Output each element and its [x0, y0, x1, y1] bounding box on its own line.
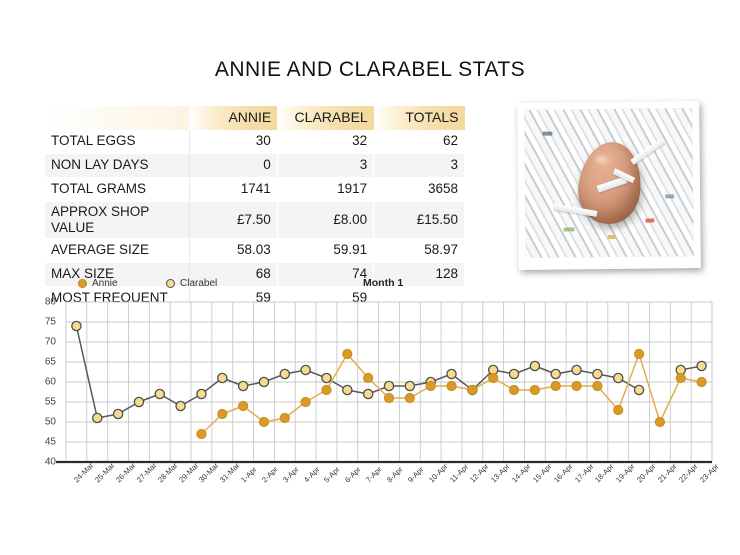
egg-photo-frame	[517, 101, 701, 270]
annie-data-point	[364, 373, 373, 382]
clarabel-data-point	[322, 373, 331, 382]
clarabel-marker-icon	[166, 279, 175, 288]
table-cell-clarabel: 3	[277, 154, 373, 178]
table-cell-totals: £15.50	[374, 202, 465, 239]
annie-data-point	[634, 349, 643, 358]
annie-data-point	[405, 393, 414, 402]
clarabel-data-point	[405, 381, 414, 390]
annie-data-point	[280, 413, 289, 422]
legend-label-clarabel: Clarabel	[180, 278, 217, 289]
legend-item-clarabel[interactable]: Clarabel	[166, 278, 217, 289]
clarabel-data-point	[239, 381, 248, 390]
egg-in-nest-photo	[524, 108, 694, 258]
table-cell-clarabel: 59.91	[277, 239, 373, 263]
nest-fleck	[542, 132, 552, 136]
annie-data-point	[218, 409, 227, 418]
clarabel-data-point	[447, 369, 456, 378]
table-row: APPROX SHOP VALUE£7.50£8.00£15.50	[45, 202, 465, 239]
clarabel-data-point	[218, 373, 227, 382]
clarabel-data-point	[384, 381, 393, 390]
table-cell-label: APPROX SHOP VALUE	[45, 202, 189, 239]
legend-label-annie: Annie	[92, 278, 118, 289]
annie-data-point	[676, 373, 685, 382]
annie-data-point	[301, 397, 310, 406]
table-header-clarabel: CLARABEL	[277, 106, 373, 130]
annie-data-point	[655, 417, 664, 426]
legend-item-annie[interactable]: Annie	[78, 278, 118, 289]
annie-data-point	[593, 381, 602, 390]
chart-svg	[0, 296, 740, 471]
annie-data-point	[239, 401, 248, 410]
table-cell-annie: 0	[189, 154, 277, 178]
table-header-row: ANNIE CLARABEL TOTALS	[45, 106, 465, 130]
clarabel-data-point	[697, 361, 706, 370]
clarabel-data-point	[93, 413, 102, 422]
clarabel-data-point	[551, 369, 560, 378]
table-cell-annie: 30	[189, 130, 277, 154]
annie-data-point	[551, 381, 560, 390]
annie-marker-icon	[78, 279, 87, 288]
clarabel-data-point	[634, 385, 643, 394]
nest-fleck	[563, 227, 574, 231]
clarabel-data-point	[113, 409, 122, 418]
table-cell-annie: £7.50	[189, 202, 277, 239]
table-cell-annie: 1741	[189, 178, 277, 202]
clarabel-data-point	[176, 401, 185, 410]
annie-data-point	[426, 381, 435, 390]
x-axis-labels: 24-Mar25-Mar26-Mar27-Mar28-Mar29-Mar30-M…	[0, 474, 740, 534]
annie-data-point	[572, 381, 581, 390]
annie-data-point	[447, 381, 456, 390]
nest-fleck	[665, 194, 674, 198]
annie-data-point	[468, 385, 477, 394]
annie-data-point	[614, 405, 623, 414]
table-cell-label: TOTAL GRAMS	[45, 178, 189, 202]
table-cell-clarabel: £8.00	[277, 202, 373, 239]
page-title: ANNIE AND CLARABEL STATS	[0, 58, 740, 82]
annie-data-point	[322, 385, 331, 394]
table-row: AVERAGE SIZE58.0359.9158.97	[45, 239, 465, 263]
table-cell-totals: 3658	[374, 178, 465, 202]
annie-data-point	[697, 377, 706, 386]
table-cell-label: TOTAL EGGS	[45, 130, 189, 154]
clarabel-data-point	[572, 365, 581, 374]
annie-data-point	[489, 373, 498, 382]
annie-data-point	[343, 349, 352, 358]
table-cell-label: NON LAY DAYS	[45, 154, 189, 178]
clarabel-data-point	[364, 389, 373, 398]
clarabel-data-point	[509, 369, 518, 378]
clarabel-data-point	[593, 369, 602, 378]
clarabel-data-point	[280, 369, 289, 378]
clarabel-data-point	[259, 377, 268, 386]
clarabel-data-point	[72, 321, 81, 330]
clarabel-data-point	[614, 373, 623, 382]
nest-fleck	[645, 219, 654, 223]
clarabel-data-point	[197, 389, 206, 398]
table-cell-totals: 62	[374, 130, 465, 154]
annie-data-point	[530, 385, 539, 394]
clarabel-data-point	[134, 397, 143, 406]
table-cell-clarabel: 32	[277, 130, 373, 154]
annie-data-point	[197, 429, 206, 438]
annie-data-point	[259, 417, 268, 426]
table-cell-totals: 58.97	[374, 239, 465, 263]
table-row: TOTAL GRAMS174119173658	[45, 178, 465, 202]
clarabel-data-point	[343, 385, 352, 394]
nest-fleck	[608, 235, 616, 239]
table-cell-totals: 3	[374, 154, 465, 178]
clarabel-data-point	[155, 389, 164, 398]
table-row: TOTAL EGGS303262	[45, 130, 465, 154]
table-row: NON LAY DAYS033	[45, 154, 465, 178]
table-cell-label: AVERAGE SIZE	[45, 239, 189, 263]
table-header-corner	[45, 106, 189, 130]
egg-size-chart: Annie Clarabel Month 1 40455055606570758…	[0, 272, 740, 527]
table-cell-annie: 58.03	[189, 239, 277, 263]
table-header-totals: TOTALS	[374, 106, 465, 130]
clarabel-data-point	[530, 361, 539, 370]
annie-data-point	[509, 385, 518, 394]
clarabel-data-point	[301, 365, 310, 374]
chart-title: Month 1	[363, 277, 403, 289]
table-cell-clarabel: 1917	[277, 178, 373, 202]
chart-plot-area: 404550556065707580 24-Mar25-Mar26-Mar27-…	[0, 296, 740, 526]
annie-data-point	[384, 393, 393, 402]
table-header-annie: ANNIE	[189, 106, 277, 130]
